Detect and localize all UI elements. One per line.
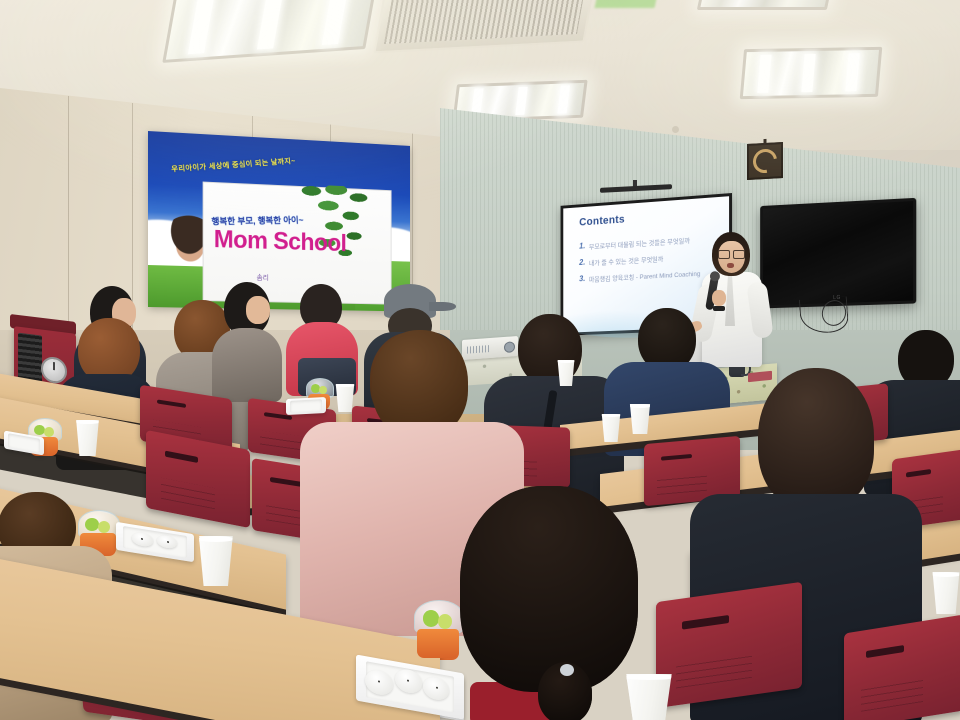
ac-grille <box>384 0 585 44</box>
banner-title: Mom School <box>214 225 405 259</box>
tv-panel <box>763 201 913 305</box>
ceiling-green-light-edge <box>595 0 658 8</box>
paper-cup <box>930 572 960 614</box>
smoke-detector-icon <box>672 126 679 133</box>
banner-tagline: 우리아이가 세상에 중심이 되는 날까지~ <box>170 149 390 174</box>
attendee-a2b <box>212 282 284 400</box>
slide-heading: Contents <box>579 214 625 229</box>
chair[interactable] <box>844 614 960 720</box>
enso-icon <box>748 144 781 177</box>
ceiling-light-4 <box>697 0 833 10</box>
glasses-icon <box>718 250 745 257</box>
meeting-room-photo: 우리아이가 세상에 중심이 되는 날까지~ 행복한 부모, 행복한 아이~ Mo… <box>0 0 960 720</box>
hair-clip <box>560 664 574 676</box>
ceiling-light-3 <box>740 47 883 99</box>
chair[interactable] <box>656 582 802 709</box>
enso-circle-artwork <box>747 142 783 180</box>
wall-mounted-tv: LG <box>760 198 916 309</box>
presenter-hand <box>712 290 726 306</box>
